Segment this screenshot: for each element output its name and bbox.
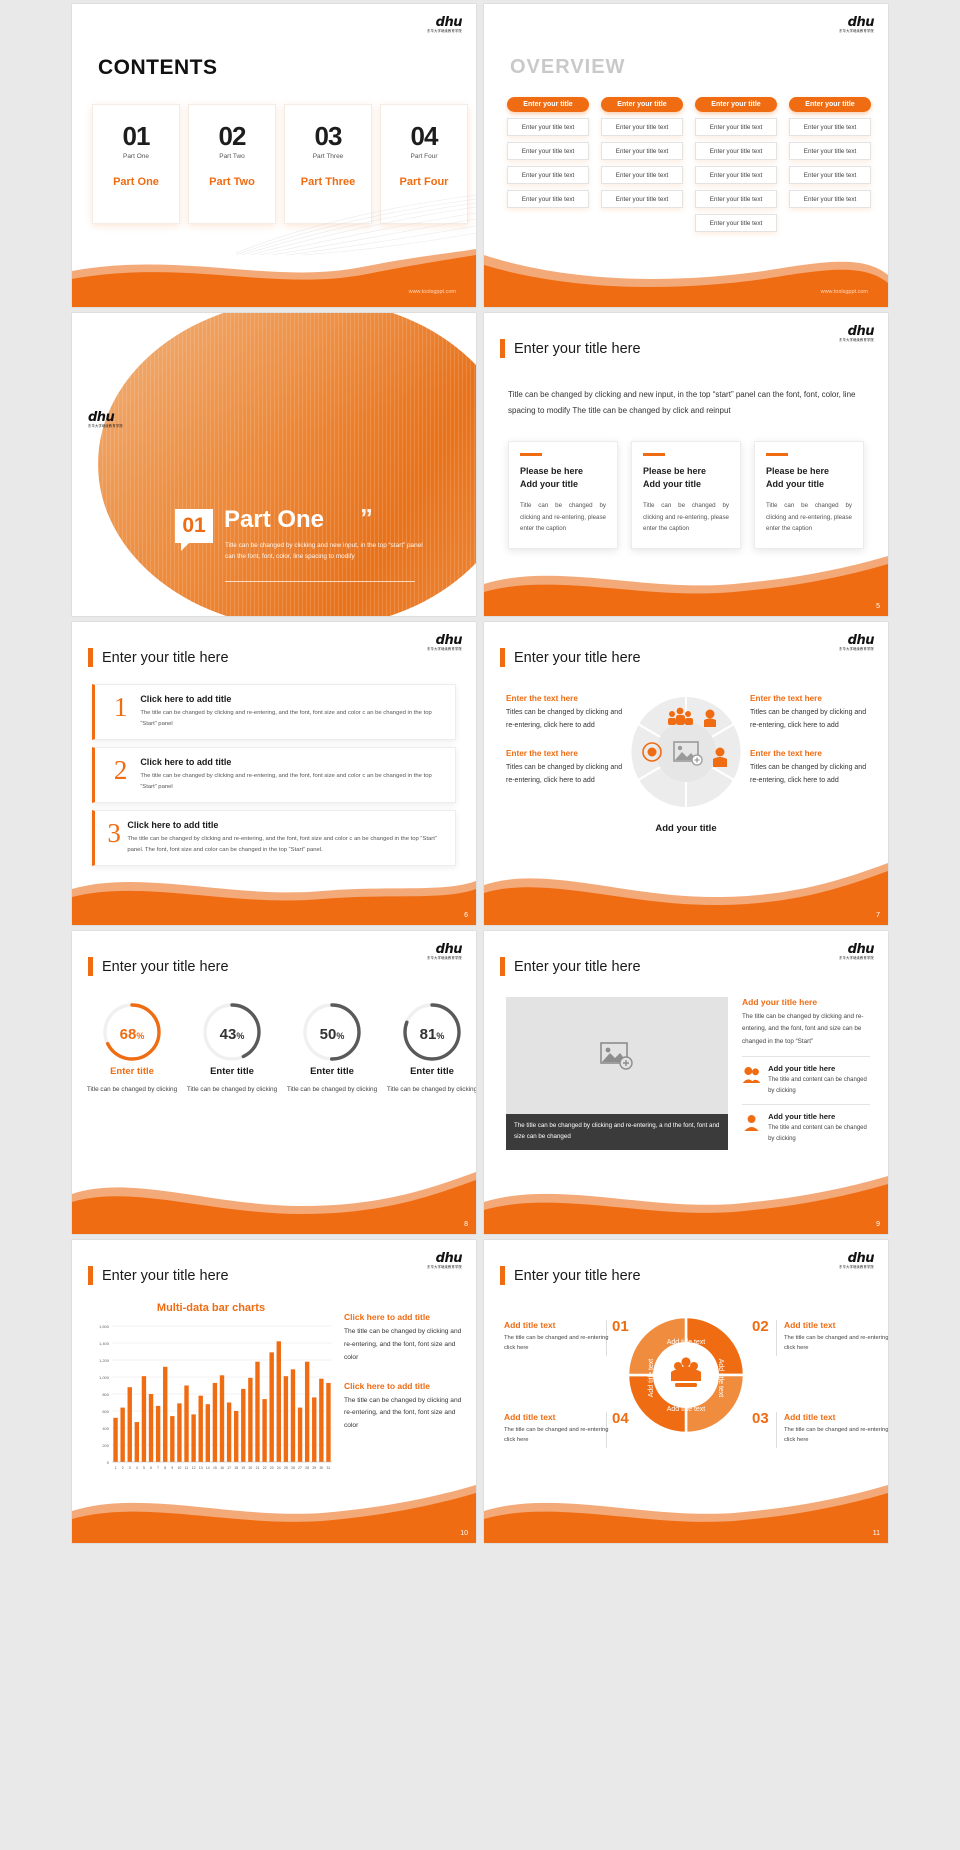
- card-subtitle: Part One: [93, 153, 179, 160]
- person-icon: [742, 1112, 761, 1134]
- right-content-column: Add your title here The title can be cha…: [742, 997, 870, 1145]
- chart-title: Multi-data bar charts: [86, 1302, 336, 1314]
- text-block: Enter the text here Titles can be change…: [750, 694, 870, 733]
- ring-title: Enter title: [184, 1066, 280, 1077]
- slide-thumbnail-grid: dhu 东华大学继续教育学院 CONTENTS 01 Part One Part…: [0, 0, 960, 1547]
- svg-text:23: 23: [270, 1466, 274, 1470]
- item-heading: Click here to add title: [140, 757, 445, 767]
- numbered-row-list: 1 Click here to add title The title can …: [92, 684, 456, 873]
- svg-text:24: 24: [277, 1466, 281, 1470]
- svg-text:21: 21: [256, 1466, 260, 1470]
- svg-text:17: 17: [227, 1466, 231, 1470]
- card-number: 04: [381, 121, 467, 152]
- footer-url: www.toolsgppt.com: [409, 289, 456, 295]
- ring-caption: Title can be changed by clicking: [184, 1084, 280, 1095]
- overview-cell[interactable]: Enter your title text: [507, 190, 589, 208]
- text-block: Click here to add title The title can be…: [344, 1312, 464, 1365]
- dhu-logo: dhu 东华大学继续教育学院: [839, 1252, 874, 1269]
- footer-wave: [72, 245, 476, 307]
- logo-wordmark: dhu: [427, 634, 462, 647]
- footer-wave: [484, 1172, 888, 1234]
- card-subtitle: Part Two: [189, 153, 275, 160]
- slide-title: Enter your title here: [500, 339, 641, 358]
- dhu-logo: dhu 东华大学继续教育学院: [427, 634, 462, 651]
- overview-cell[interactable]: Enter your title text: [789, 142, 871, 160]
- logo-wordmark: dhu: [839, 943, 874, 956]
- logo-subtitle: 东华大学继续教育学院: [427, 957, 462, 960]
- logo-wordmark: dhu: [839, 16, 874, 29]
- left-text-column: Enter the text here Titles can be change…: [506, 694, 626, 803]
- logo-wordmark: dhu: [427, 943, 462, 956]
- contents-card[interactable]: 01 Part One Part One: [92, 104, 180, 224]
- ring-unit: %: [136, 1031, 144, 1041]
- percent-ring-item[interactable]: 81% Enter title Title can be changed by …: [384, 999, 476, 1095]
- slide-title-text: Enter your title here: [514, 650, 641, 666]
- page-number: 9: [876, 1221, 880, 1228]
- logo-wordmark: dhu: [427, 16, 462, 29]
- svg-text:14: 14: [206, 1466, 210, 1470]
- quote-mark-icon: ”: [360, 503, 373, 534]
- list-item[interactable]: 1 Click here to add title The title can …: [92, 684, 456, 740]
- overview-cell[interactable]: Enter your title text: [601, 118, 683, 136]
- ring-title: Enter title: [384, 1066, 476, 1077]
- block-body: Titles can be changed by clicking and re…: [506, 761, 626, 788]
- svg-text:19: 19: [241, 1466, 245, 1470]
- page-number: 5: [876, 603, 880, 610]
- block-heading: Enter the text here: [506, 694, 626, 703]
- page-number: 11: [873, 1530, 880, 1537]
- cycle-label-item[interactable]: Add title text The title can be changed …: [784, 1320, 888, 1354]
- slide-bar-chart[interactable]: dhu 东华大学继续教育学院 Enter your title here Mul…: [72, 1240, 476, 1543]
- slide-title: Enter your title here: [88, 957, 229, 976]
- title-accent-bar: [500, 339, 505, 358]
- card-subtitle: Part Four: [381, 153, 467, 160]
- cycle-label-item[interactable]: Add title text The title can be changed …: [784, 1412, 888, 1446]
- svg-text:5: 5: [143, 1466, 145, 1470]
- overview-cell[interactable]: Enter your title text: [695, 118, 777, 136]
- logo-wordmark: dhu: [88, 411, 462, 424]
- dhu-logo: dhu 东华大学继续教育学院: [839, 325, 874, 342]
- column-header-pill[interactable]: Enter your title: [789, 97, 871, 112]
- item-body: The title can be changed and re-entering…: [504, 1425, 614, 1446]
- overview-cell[interactable]: Enter your title text: [507, 142, 589, 160]
- logo-wordmark: dhu: [839, 325, 874, 338]
- svg-text:31: 31: [327, 1466, 331, 1470]
- text-block: Enter the text here Titles can be change…: [506, 749, 626, 788]
- image-placeholder-icon: [600, 1042, 634, 1070]
- svg-text:1,000: 1,000: [99, 1375, 110, 1380]
- dhu-logo: dhu 东华大学继续教育学院: [427, 1252, 462, 1269]
- lead-paragraph: Title can be changed by clicking and new…: [508, 387, 864, 420]
- item-body: The title can be changed by clicking and…: [140, 708, 445, 730]
- footer-wave: [484, 863, 888, 925]
- item-heading: Add title text: [504, 1412, 614, 1422]
- svg-text:27: 27: [298, 1466, 302, 1470]
- svg-text:3: 3: [129, 1466, 131, 1470]
- block-heading: Enter the text here: [750, 749, 870, 758]
- overview-columns: Enter your title Enter your title text E…: [506, 97, 872, 232]
- text-block: Enter the text here Titles can be change…: [506, 694, 626, 733]
- section-rule: [225, 581, 415, 582]
- ring-row: 68% Enter title Title can be changed by …: [84, 999, 476, 1095]
- svg-text:0: 0: [107, 1460, 110, 1465]
- item-number: 3: [101, 820, 127, 847]
- block-body: Titles can be changed by clicking and re…: [506, 706, 626, 733]
- svg-text:25: 25: [284, 1466, 288, 1470]
- section-number-badge: 01: [175, 509, 213, 543]
- ring-caption: Title can be changed by clicking: [84, 1084, 180, 1095]
- svg-text:29: 29: [312, 1466, 316, 1470]
- svg-text:13: 13: [199, 1466, 203, 1470]
- donut-segments[interactable]: [624, 690, 748, 814]
- overview-cell[interactable]: Enter your title text: [601, 190, 683, 208]
- title-accent-bar: [88, 1266, 93, 1285]
- logo-wordmark: dhu: [839, 634, 874, 647]
- column-header-pill[interactable]: Enter your title: [507, 97, 589, 112]
- page-number: 6: [464, 912, 468, 919]
- overview-cell[interactable]: Enter your title text: [789, 166, 871, 184]
- card-heading-line2: Add your title: [643, 479, 701, 489]
- ring-value: 43: [220, 1026, 237, 1043]
- ring-unit: %: [436, 1031, 444, 1041]
- overview-cell[interactable]: Enter your title text: [695, 214, 777, 232]
- ring-value: 81: [420, 1026, 437, 1043]
- block-heading: Enter the text here: [750, 694, 870, 703]
- list-item[interactable]: Add your title here The title and conten…: [742, 1104, 870, 1145]
- svg-text:1,600: 1,600: [99, 1324, 110, 1329]
- contents-heading: CONTENTS: [98, 56, 218, 80]
- logo-subtitle: 东华大学继续教育学院: [427, 1266, 462, 1269]
- cycle-label-top: Add title text: [667, 1339, 706, 1346]
- cycle-label-item[interactable]: Add title text The title can be changed …: [504, 1412, 614, 1446]
- image-caption: The title can be changed by clicking and…: [506, 1114, 728, 1150]
- page-number: 7: [876, 912, 880, 919]
- slide-section-divider[interactable]: dhu 东华大学继续教育学院 01 Part One ” Title can b…: [72, 313, 476, 616]
- list-item[interactable]: Add your title here The title and conten…: [742, 1056, 870, 1097]
- slide-cycle-diagram[interactable]: dhu 东华大学继续教育学院 Enter your title here: [484, 1240, 888, 1543]
- svg-text:1: 1: [115, 1466, 117, 1470]
- svg-text:2: 2: [122, 1466, 124, 1470]
- cycle-number: 01: [612, 1318, 629, 1335]
- overview-cell[interactable]: Enter your title text: [789, 118, 871, 136]
- card-subtitle: Part Three: [285, 153, 371, 160]
- footer-wave: [484, 245, 888, 307]
- slide-title: Enter your title here: [500, 957, 641, 976]
- block-body: The title can be changed by clicking and…: [344, 1326, 464, 1365]
- item-heading: Add title text: [504, 1320, 614, 1330]
- overview-cell[interactable]: Enter your title text: [601, 142, 683, 160]
- title-accent-bar: [500, 648, 505, 667]
- svg-text:6: 6: [150, 1466, 152, 1470]
- page-number: 10: [460, 1530, 468, 1537]
- card-heading-line1: Please be here: [520, 466, 583, 476]
- overview-cell[interactable]: Enter your title text: [789, 190, 871, 208]
- svg-text:26: 26: [291, 1466, 295, 1470]
- logo-subtitle: 东华大学继续教育学院: [839, 648, 874, 651]
- list-item[interactable]: 3 Click here to add title The title can …: [92, 810, 456, 866]
- footer-wave: [72, 863, 476, 925]
- slide-title-text: Enter your title here: [514, 959, 641, 975]
- svg-text:7: 7: [157, 1466, 159, 1470]
- svg-text:8: 8: [164, 1466, 166, 1470]
- column-header-pill[interactable]: Enter your title: [601, 97, 683, 112]
- svg-text:30: 30: [319, 1466, 323, 1470]
- item-body: The title and content can be changed by …: [768, 1075, 870, 1097]
- logo-subtitle: 东华大学继续教育学院: [427, 30, 462, 33]
- logo-subtitle: 东华大学继续教育学院: [839, 957, 874, 960]
- slide-percent-rings[interactable]: dhu 东华大学继续教育学院 Enter your title here 68%…: [72, 931, 476, 1234]
- cycle-label-bottom: Add title text: [667, 1406, 706, 1413]
- cycle-number: 04: [612, 1410, 629, 1427]
- slide-title-text: Enter your title here: [514, 341, 641, 357]
- overview-cell[interactable]: Enter your title text: [507, 118, 589, 136]
- logo-subtitle: 东华大学继续教育学院: [839, 339, 874, 342]
- svg-text:800: 800: [102, 1392, 109, 1397]
- svg-text:4: 4: [136, 1466, 138, 1470]
- svg-text:11: 11: [185, 1466, 189, 1470]
- donut-diagram: Add your title: [621, 690, 751, 834]
- text-block: Click here to add title The title can be…: [344, 1381, 464, 1434]
- right-text-column: Enter the text here Titles can be change…: [750, 694, 870, 803]
- slide-title-text: Enter your title here: [102, 1268, 229, 1284]
- slide-title: Enter your title here: [500, 648, 641, 667]
- item-body: The title can be changed by clicking and…: [140, 771, 445, 793]
- logo-subtitle: 东华大学继续教育学院: [839, 30, 874, 33]
- card-accent-dash: [520, 453, 542, 456]
- svg-text:12: 12: [192, 1466, 196, 1470]
- item-heading: Add title text: [784, 1412, 888, 1422]
- text-block: Enter the text here Titles can be change…: [750, 749, 870, 788]
- logo-wordmark: dhu: [839, 1252, 874, 1265]
- item-body: The title and content can be changed by …: [768, 1123, 870, 1145]
- overview-cell[interactable]: Enter your title text: [507, 166, 589, 184]
- dhu-logo: dhu 东华大学继续教育学院: [839, 634, 874, 651]
- logo-subtitle: 东华大学继续教育学院: [88, 425, 462, 428]
- slide-numbered-list[interactable]: dhu 东华大学继续教育学院 Enter your title here 1 C…: [72, 622, 476, 925]
- slide-title: Enter your title here: [88, 1266, 229, 1285]
- percent-ring-item[interactable]: 43% Enter title Title can be changed by …: [184, 999, 280, 1095]
- info-card[interactable]: Please be here Add your title Title can …: [631, 441, 741, 549]
- item-heading: Add title text: [784, 1320, 888, 1330]
- card-body: Title can be changed by clicking and re-…: [766, 500, 852, 534]
- item-heading: Add your title here: [768, 1112, 870, 1121]
- item-number: 2: [101, 757, 140, 784]
- ring-caption: Title can be changed by clicking: [284, 1084, 380, 1095]
- page-number: 8: [464, 1221, 468, 1228]
- block-body: Titles can be changed by clicking and re…: [750, 706, 870, 733]
- footer-wave: [72, 1172, 476, 1234]
- card-body: Title can be changed by clicking and re-…: [520, 500, 606, 534]
- logo-subtitle: 东华大学继续教育学院: [427, 648, 462, 651]
- block-heading: Enter the text here: [506, 749, 626, 758]
- ring-title: Enter title: [84, 1066, 180, 1077]
- dhu-logo: dhu 东华大学继续教育学院: [839, 16, 874, 33]
- logo-wordmark: dhu: [427, 1252, 462, 1265]
- title-accent-bar: [88, 957, 93, 976]
- image-placeholder[interactable]: [506, 997, 728, 1114]
- card-accent-dash: [766, 453, 788, 456]
- slide-title-text: Enter your title here: [102, 650, 229, 666]
- lead-body: The title can be changed by clicking and…: [742, 1011, 870, 1048]
- item-body: The title can be changed and re-entering…: [784, 1333, 888, 1354]
- svg-text:20: 20: [248, 1466, 252, 1470]
- percent-ring-item[interactable]: 68% Enter title Title can be changed by …: [84, 999, 180, 1095]
- lead-heading: Add your title here: [742, 997, 870, 1007]
- svg-text:1,200: 1,200: [99, 1358, 110, 1363]
- ring-unit: %: [336, 1031, 344, 1041]
- block-body: The title can be changed by clicking and…: [344, 1395, 464, 1434]
- footer-url: www.toolsgppt.com: [821, 289, 868, 295]
- right-text-column: Click here to add title The title can be…: [344, 1312, 464, 1449]
- overview-cell[interactable]: Enter your title text: [695, 142, 777, 160]
- percent-ring-item[interactable]: 50% Enter title Title can be changed by …: [284, 999, 380, 1095]
- svg-text:15: 15: [213, 1466, 217, 1470]
- list-item[interactable]: 2 Click here to add title The title can …: [92, 747, 456, 803]
- svg-text:22: 22: [263, 1466, 267, 1470]
- card-title: Part One: [93, 176, 179, 188]
- overview-heading: OVERVIEW: [510, 56, 625, 79]
- cycle-ring[interactable]: Add title text Add title text Add title …: [623, 1312, 749, 1438]
- svg-text:18: 18: [234, 1466, 238, 1470]
- column-header-pill[interactable]: Enter your title: [695, 97, 777, 112]
- item-heading: Click here to add title: [140, 694, 445, 704]
- cycle-label-right: Add title text: [717, 1359, 724, 1398]
- block-heading: Click here to add title: [344, 1312, 464, 1322]
- card-heading-line2: Add your title: [520, 479, 578, 489]
- slide-contents[interactable]: dhu 东华大学继续教育学院 CONTENTS 01 Part One Part…: [72, 4, 476, 307]
- slide-overview[interactable]: dhu 东华大学继续教育学院 OVERVIEW Enter your title…: [484, 4, 888, 307]
- overview-cell[interactable]: Enter your title text: [695, 190, 777, 208]
- overview-cell[interactable]: Enter your title text: [601, 166, 683, 184]
- cycle-label-left: Add title text: [648, 1359, 655, 1398]
- card-number: 01: [93, 121, 179, 152]
- info-card[interactable]: Please be here Add your title Title can …: [508, 441, 618, 549]
- card-heading-line1: Please be here: [643, 466, 706, 476]
- bar-chart: Multi-data bar charts 02004006008001,000…: [86, 1302, 336, 1487]
- dhu-logo: dhu 东华大学继续教育学院: [427, 16, 462, 33]
- dhu-logo: dhu 东华大学继续教育学院: [427, 943, 462, 960]
- slide-title: Enter your title here: [88, 648, 229, 667]
- svg-text:10: 10: [178, 1466, 182, 1470]
- page-number: 4: [464, 603, 468, 610]
- svg-text:16: 16: [220, 1466, 224, 1470]
- slide-title-text: Enter your title here: [102, 959, 229, 975]
- slide-image-and-list[interactable]: dhu 东华大学继续教育学院 Enter your title here The…: [484, 931, 888, 1234]
- dhu-logo: dhu 东华大学继续教育学院: [88, 411, 462, 428]
- card-body: Title can be changed by clicking and re-…: [643, 500, 729, 534]
- block-heading: Click here to add title: [344, 1381, 464, 1391]
- overview-cell[interactable]: Enter your title text: [695, 166, 777, 184]
- item-number: 1: [101, 694, 140, 721]
- footer-wave: [484, 1481, 888, 1543]
- svg-text:200: 200: [102, 1443, 109, 1448]
- card-number: 02: [189, 121, 275, 152]
- donut-caption: Add your title: [621, 823, 751, 834]
- card-number: 03: [285, 121, 371, 152]
- dhu-logo: dhu 东华大学继续教育学院: [839, 943, 874, 960]
- cycle-number: 03: [752, 1410, 769, 1427]
- section-title: Part One: [224, 506, 324, 534]
- overview-column: Enter your title Enter your title text E…: [506, 97, 590, 232]
- item-body: The title can be changed and re-entering…: [784, 1425, 888, 1446]
- section-hero-image: [98, 313, 476, 616]
- card-accent-dash: [643, 453, 665, 456]
- ring-value: 68: [120, 1026, 137, 1043]
- footer-wave: [484, 554, 888, 616]
- overview-column: Enter your title Enter your title text E…: [600, 97, 684, 232]
- logo-subtitle: 东华大学继续教育学院: [839, 1266, 874, 1269]
- cycle-number: 02: [752, 1318, 769, 1335]
- overview-column: Enter your title Enter your title text E…: [694, 97, 778, 232]
- item-body: The title can be changed by clicking and…: [127, 834, 445, 856]
- card-heading-line1: Please be here: [766, 466, 829, 476]
- svg-text:28: 28: [305, 1466, 309, 1470]
- info-card[interactable]: Please be here Add your title Title can …: [754, 441, 864, 549]
- ring-caption: Title can be changed by clicking: [384, 1084, 476, 1095]
- svg-text:600: 600: [102, 1409, 109, 1414]
- slide-three-cards[interactable]: dhu 东华大学继续教育学院 Enter your title here Tit…: [484, 313, 888, 616]
- block-body: Titles can be changed by clicking and re…: [750, 761, 870, 788]
- footer-wave: [72, 1481, 476, 1543]
- item-heading: Click here to add title: [127, 820, 445, 830]
- card-row: Please be here Add your title Title can …: [508, 441, 864, 549]
- card-heading-line2: Add your title: [766, 479, 824, 489]
- two-people-icon: [742, 1064, 761, 1086]
- svg-text:9: 9: [171, 1466, 173, 1470]
- item-heading: Add your title here: [768, 1064, 870, 1073]
- slide-donut-diagram[interactable]: dhu 东华大学继续教育学院 Enter your title here Ent…: [484, 622, 888, 925]
- overview-column: Enter your title Enter your title text E…: [788, 97, 872, 232]
- title-accent-bar: [88, 648, 93, 667]
- item-body: The title can be changed and re-entering…: [504, 1333, 614, 1354]
- ring-unit: %: [236, 1031, 244, 1041]
- svg-text:1,400: 1,400: [99, 1341, 110, 1346]
- ring-value: 50: [320, 1026, 337, 1043]
- title-accent-bar: [500, 957, 505, 976]
- cycle-label-item[interactable]: Add title text The title can be changed …: [504, 1320, 614, 1354]
- ring-title: Enter title: [284, 1066, 380, 1077]
- section-body-text: Title can be changed by clicking and new…: [225, 540, 425, 562]
- chart-canvas: 02004006008001,0001,2001,4001,6001234567…: [86, 1320, 336, 1480]
- svg-text:400: 400: [102, 1426, 109, 1431]
